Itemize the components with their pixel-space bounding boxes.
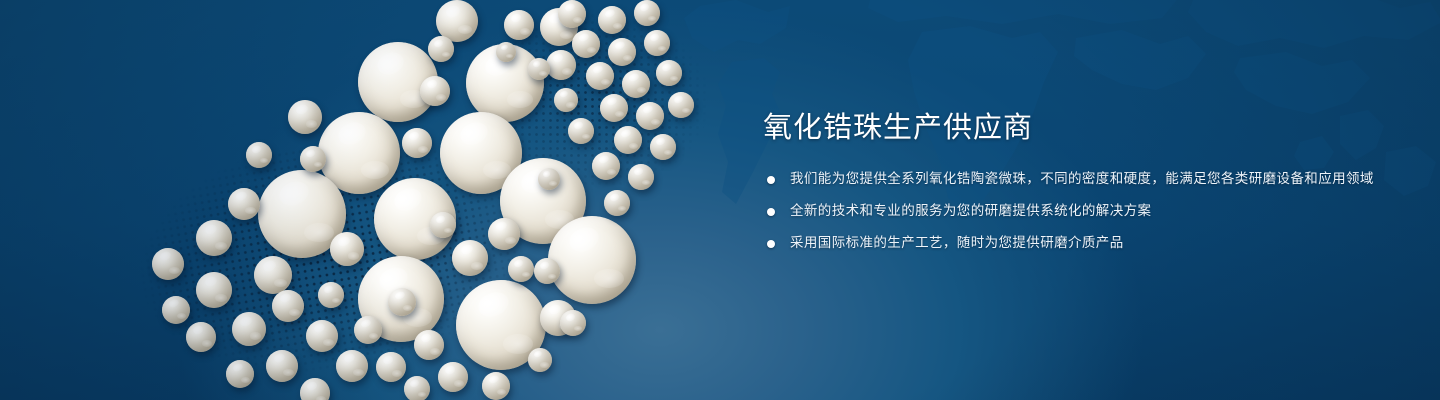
list-item: 采用国际标准的生产工艺，随时为您提供研磨介质产品 xyxy=(763,232,1383,255)
list-item-label: 采用国际标准的生产工艺，随时为您提供研磨介质产品 xyxy=(790,235,1124,251)
hero-banner: 氧化锆珠生产供应商 我们能为您提供全系列氧化锆陶瓷微珠，不同的密度和硬度，能满足… xyxy=(0,0,1440,400)
banner-copy: 氧化锆珠生产供应商 我们能为您提供全系列氧化锆陶瓷微珠，不同的密度和硬度，能满足… xyxy=(763,108,1383,264)
page-title: 氧化锆珠生产供应商 xyxy=(763,108,1383,146)
list-item-label: 我们能为您提供全系列氧化锆陶瓷微珠，不同的密度和硬度，能满足您各类研磨设备和应用… xyxy=(790,171,1374,187)
feature-list: 我们能为您提供全系列氧化锆陶瓷微珠，不同的密度和硬度，能满足您各类研磨设备和应用… xyxy=(763,168,1383,255)
bullet-dot-icon xyxy=(767,208,775,216)
bullet-dot-icon xyxy=(767,176,775,184)
list-item-label: 全新的技术和专业的服务为您的研磨提供系统化的解决方案 xyxy=(790,203,1151,219)
list-item: 我们能为您提供全系列氧化锆陶瓷微珠，不同的密度和硬度，能满足您各类研磨设备和应用… xyxy=(763,168,1383,191)
bullet-dot-icon xyxy=(767,240,775,248)
list-item: 全新的技术和专业的服务为您的研磨提供系统化的解决方案 xyxy=(763,200,1383,223)
